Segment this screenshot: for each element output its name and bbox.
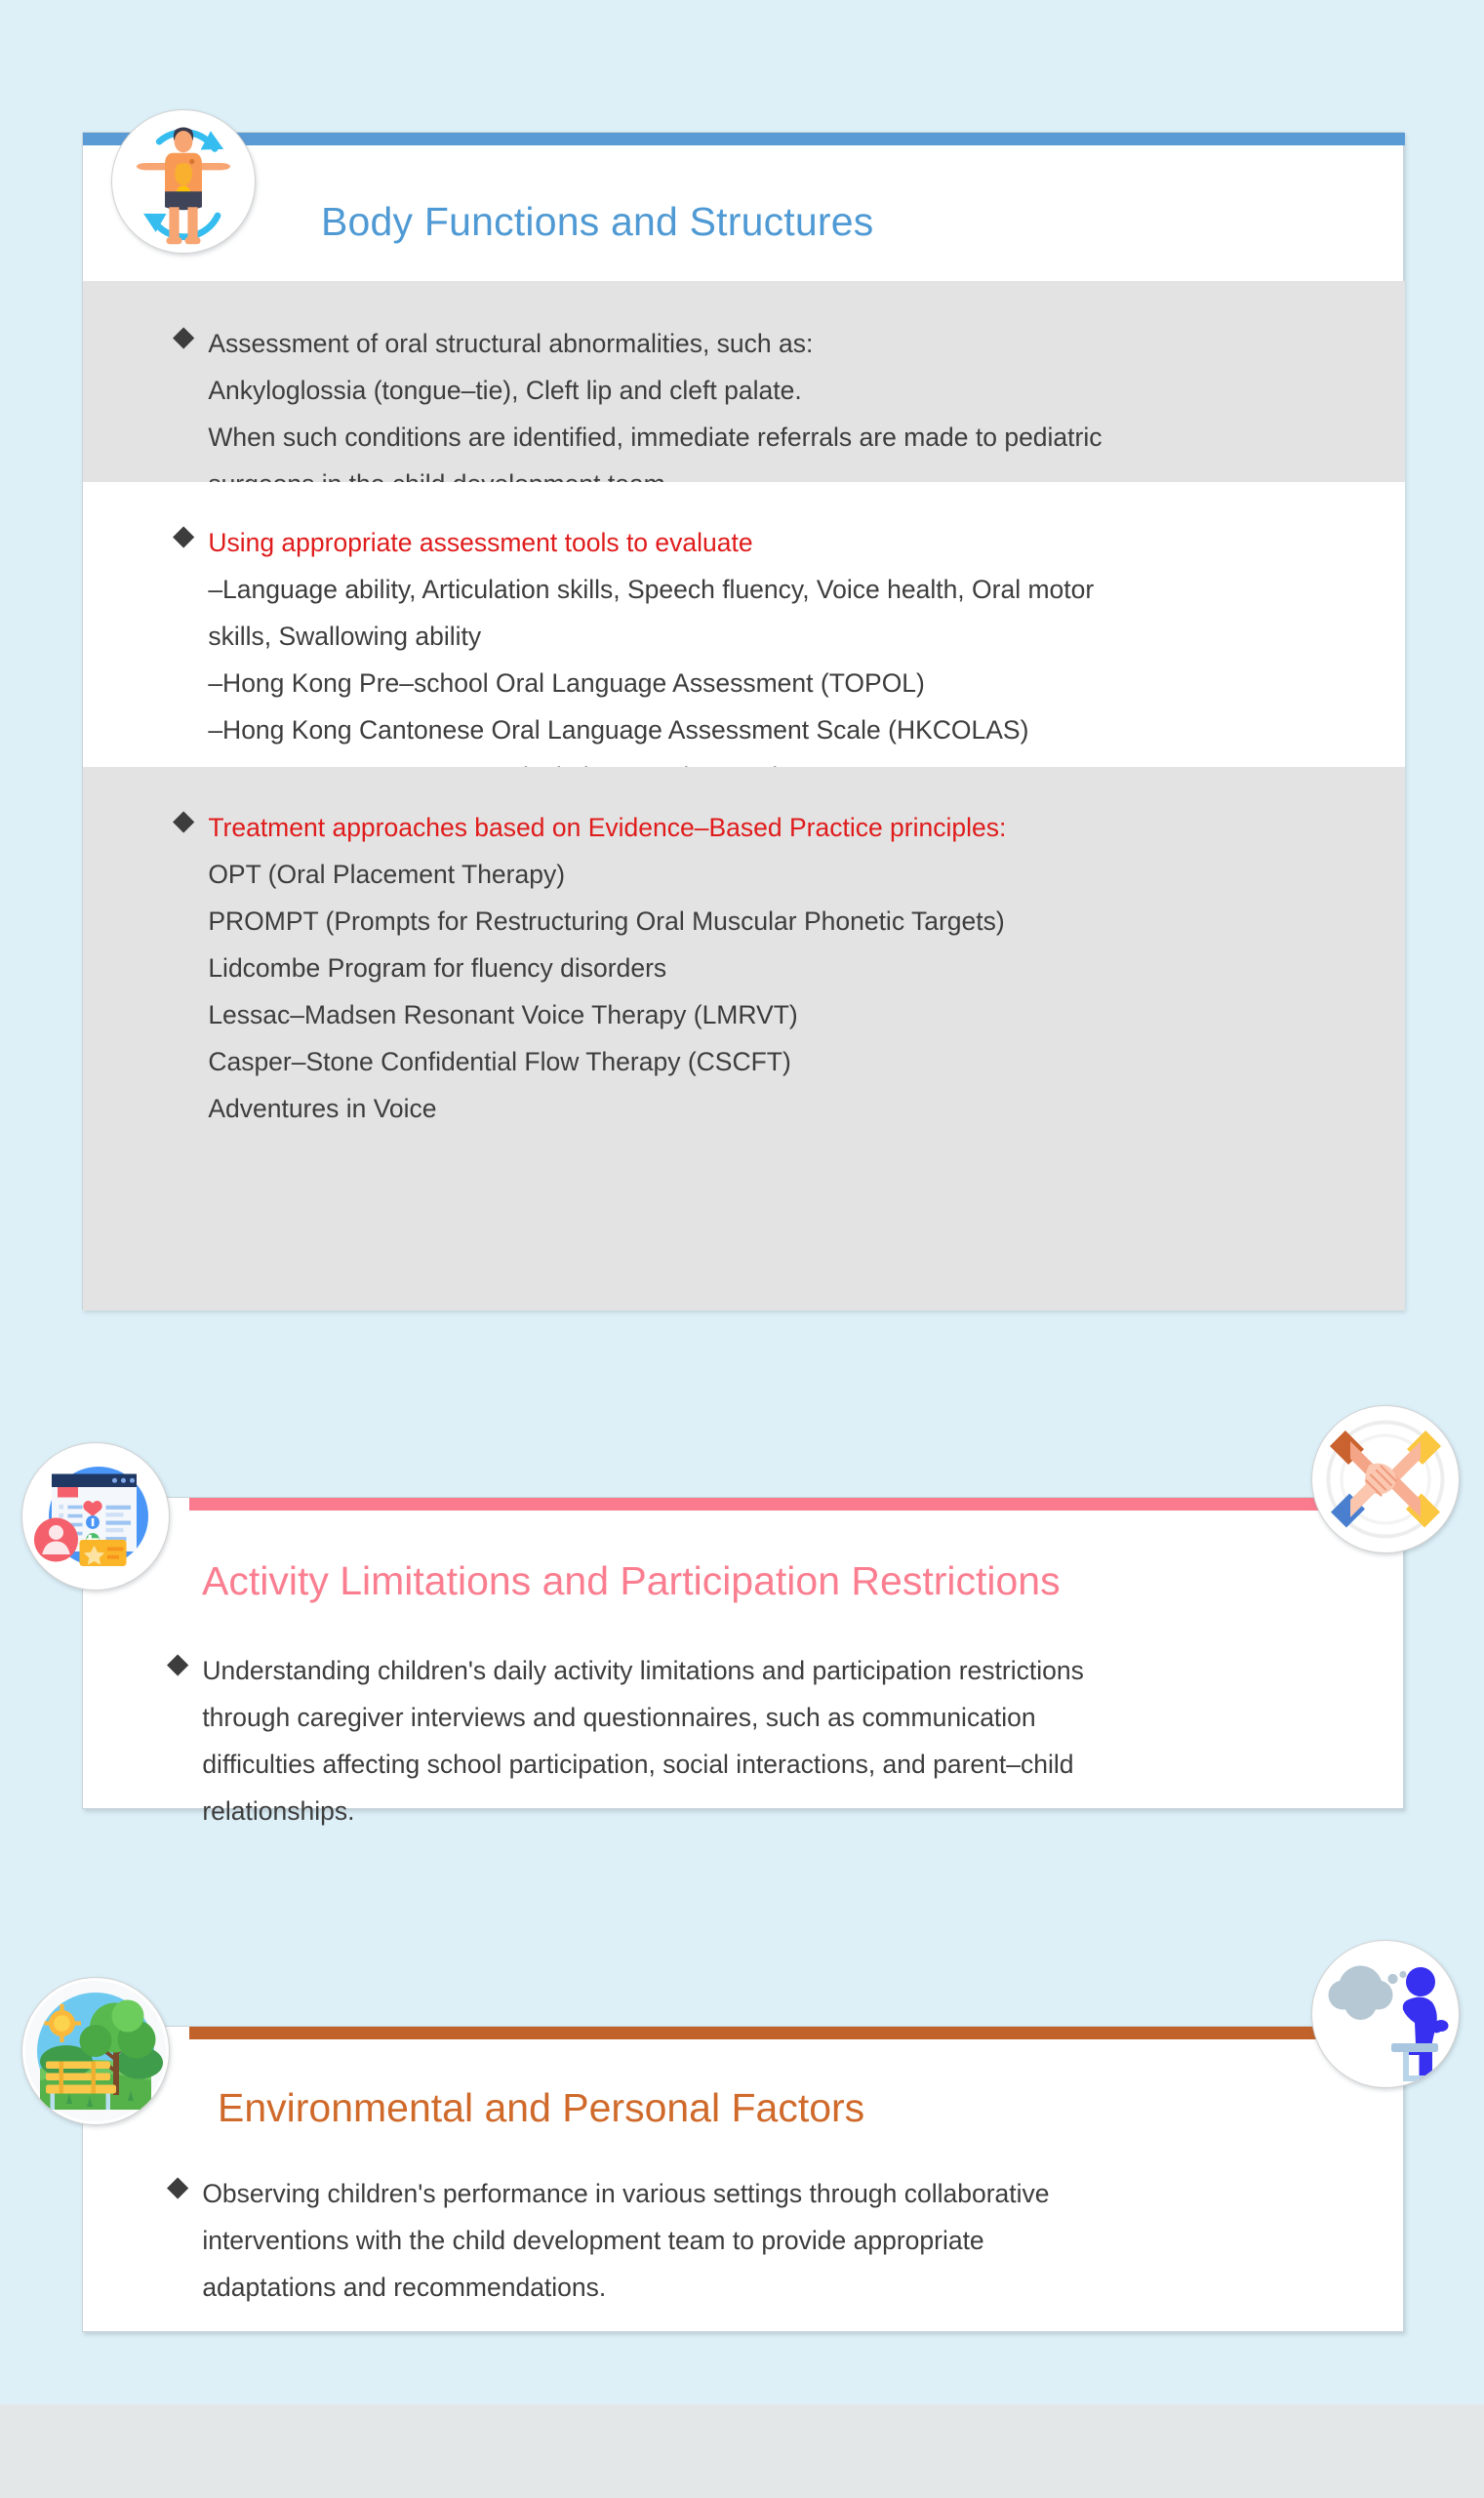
bullet-block: ◆ Observing children's performance in va…: [167, 2170, 1050, 2311]
bullet-line: –Hong Kong Cantonese Oral Language Asses…: [208, 706, 1094, 753]
thinking-person-icon: [1311, 1940, 1460, 2088]
card-accent-bar: [189, 2027, 1405, 2039]
bullet-text-group: Treatment approaches based on Evidence–B…: [208, 804, 1006, 1132]
bullet-line: relationships.: [202, 1788, 1084, 1834]
bullet-heading: Using appropriate assessment tools to ev…: [208, 519, 1094, 566]
bullet-line: Lessac–Madsen Resonant Voice Therapy (LM…: [208, 991, 1006, 1038]
bullet-line: through caregiver interviews and questio…: [202, 1694, 1084, 1741]
diamond-bullet-icon: ◆: [167, 1650, 188, 1678]
card-title-body-functions: Body Functions and Structures: [321, 199, 873, 245]
card-accent-bar: [83, 133, 1405, 145]
bullet-line: Casper–Stone Confidential Flow Therapy (…: [208, 1038, 1006, 1085]
bullet-line: skills, Swallowing ability: [208, 613, 1094, 660]
body-structures-icon: [111, 109, 256, 254]
bullet-sublines: OPT (Oral Placement Therapy) PROMPT (Pro…: [208, 851, 1006, 1132]
bullet-line: adaptations and recommendations.: [202, 2264, 1049, 2311]
bullet-line: interventions with the child development…: [202, 2217, 1049, 2264]
diamond-bullet-icon: ◆: [167, 2173, 188, 2201]
bullet-text-group: Understanding children's daily activity …: [202, 1647, 1084, 1834]
bottom-strip: [0, 2404, 1484, 2498]
bullet-line: difficulties affecting school participat…: [202, 1741, 1084, 1788]
card-body-functions: Body Functions and Structures ◆ Assessme…: [82, 132, 1404, 1309]
bullet-line: Adventures in Voice: [208, 1085, 1006, 1132]
bullet-block: ◆ Assessment of oral structural abnormal…: [173, 320, 1103, 507]
bullet-line: Ankyloglossia (tongue–tie), Cleft lip an…: [208, 367, 1102, 414]
bullet-heading: Assessment of oral structural abnormalit…: [208, 320, 1102, 367]
bullet-heading: Treatment approaches based on Evidence–B…: [208, 804, 1006, 851]
bullet-line: Observing children's performance in vari…: [202, 2170, 1049, 2217]
bullet-block: ◆ Understanding children's daily activit…: [167, 1647, 1084, 1834]
card-title-environmental-personal: Environmental and Personal Factors: [218, 2085, 864, 2131]
bullet-block: ◆ Treatment approaches based on Evidence…: [173, 804, 1006, 1132]
bullet-text-group: Assessment of oral structural abnormalit…: [208, 320, 1102, 507]
bullet-text-group: Observing children's performance in vari…: [202, 2170, 1049, 2311]
bullet-line: –Hong Kong Pre–school Oral Language Asse…: [208, 660, 1094, 706]
park-nature-icon: [21, 1977, 170, 2125]
bullet-line: PROMPT (Prompts for Restructuring Oral M…: [208, 898, 1006, 945]
bullet-line: Understanding children's daily activity …: [202, 1647, 1084, 1694]
bullet-line: OPT (Oral Placement Therapy): [208, 851, 1006, 898]
band-oral-assessment: ◆ Assessment of oral structural abnormal…: [83, 281, 1405, 482]
card-environmental-personal: Environmental and Personal Factors ◆ Obs…: [82, 2026, 1404, 2332]
card-title-activity-limitations: Activity Limitations and Participation R…: [202, 1558, 1061, 1604]
diamond-bullet-icon: ◆: [173, 807, 194, 835]
teamwork-hands-icon: [1311, 1405, 1460, 1553]
slide-canvas: Body Functions and Structures ◆ Assessme…: [0, 0, 1484, 2404]
band-treatment-approaches: ◆ Treatment approaches based on Evidence…: [83, 767, 1405, 1310]
bullet-line: –Language ability, Articulation skills, …: [208, 566, 1094, 613]
band-assessment-tools: ◆ Using appropriate assessment tools to …: [83, 482, 1405, 767]
card-activity-limitations: Activity Limitations and Participation R…: [82, 1497, 1404, 1809]
card-accent-bar: [189, 1498, 1405, 1511]
diamond-bullet-icon: ◆: [173, 522, 194, 550]
bullet-line: Lidcombe Program for fluency disorders: [208, 945, 1006, 991]
diamond-bullet-icon: ◆: [173, 323, 194, 351]
bullet-line: When such conditions are identified, imm…: [208, 414, 1102, 461]
assessment-form-icon: [21, 1442, 170, 1591]
